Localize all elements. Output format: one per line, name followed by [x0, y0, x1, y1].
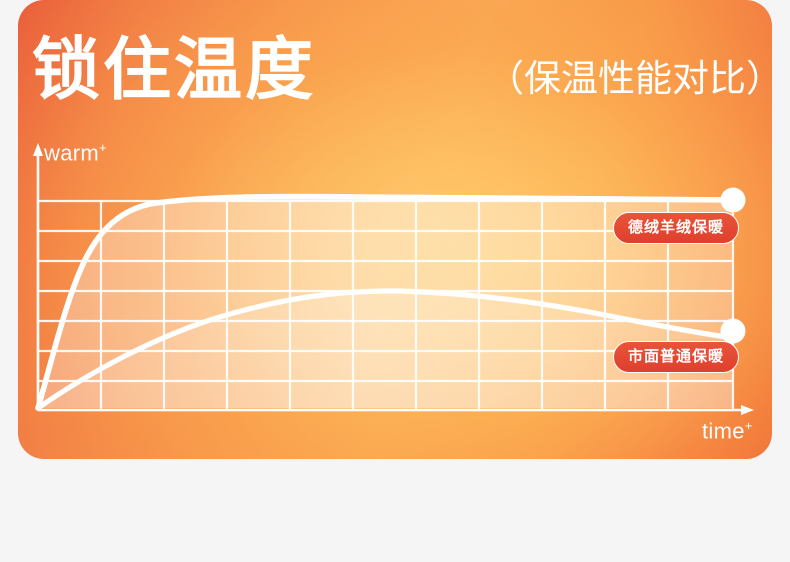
x-axis-label-text: time	[702, 418, 745, 443]
y-axis-label-text: warm	[44, 140, 99, 165]
y-axis-label-superscript: +	[99, 140, 107, 155]
x-axis-label-superscript: +	[745, 418, 753, 433]
legend-pill-ordinary[interactable]: 市面普通保暖	[613, 341, 739, 373]
page-subtitle: （保温性能对比）	[487, 60, 783, 97]
page-title: 锁住温度	[32, 36, 316, 104]
x-axis-label: time+	[702, 418, 753, 444]
legend-pill-premium[interactable]: 德绒羊绒保暖	[613, 212, 739, 244]
y-axis-label: warm+	[44, 140, 107, 166]
page-root: 锁住温度 （保温性能对比）	[0, 0, 790, 562]
